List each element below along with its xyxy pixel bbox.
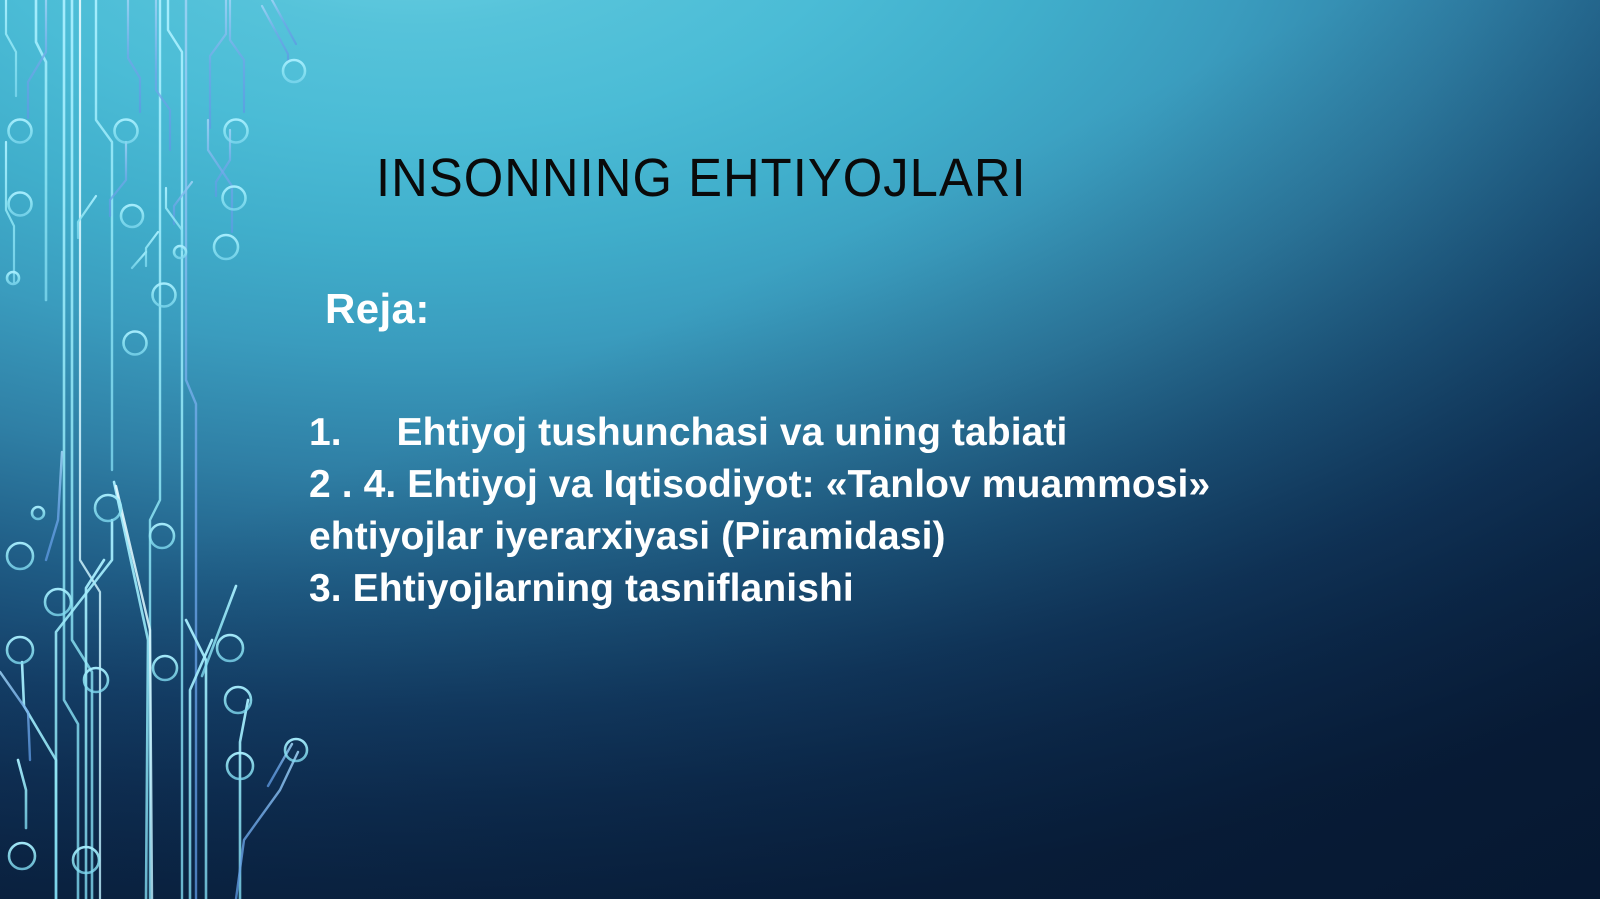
- plan-list: 1. Ehtiyoj tushunchasi va uning tabiati …: [309, 407, 1369, 614]
- plan-list-item: 1. Ehtiyoj tushunchasi va uning tabiati: [309, 407, 1369, 459]
- slide-title: INSONNING EHTIYOJLARI: [376, 147, 1027, 209]
- presentation-slide: INSONNING EHTIYOJLARI Reja: 1. Ehtiyoj t…: [0, 0, 1600, 899]
- plan-list-item: 2 . 4. Ehtiyoj va Iqtisodiyot: «Tanlov m…: [309, 459, 1369, 563]
- plan-list-item: 3. Ehtiyojlarning tasniflanishi: [309, 563, 1369, 615]
- plan-label: Reja:: [325, 285, 430, 333]
- circuit-board-decoration: [0, 0, 330, 899]
